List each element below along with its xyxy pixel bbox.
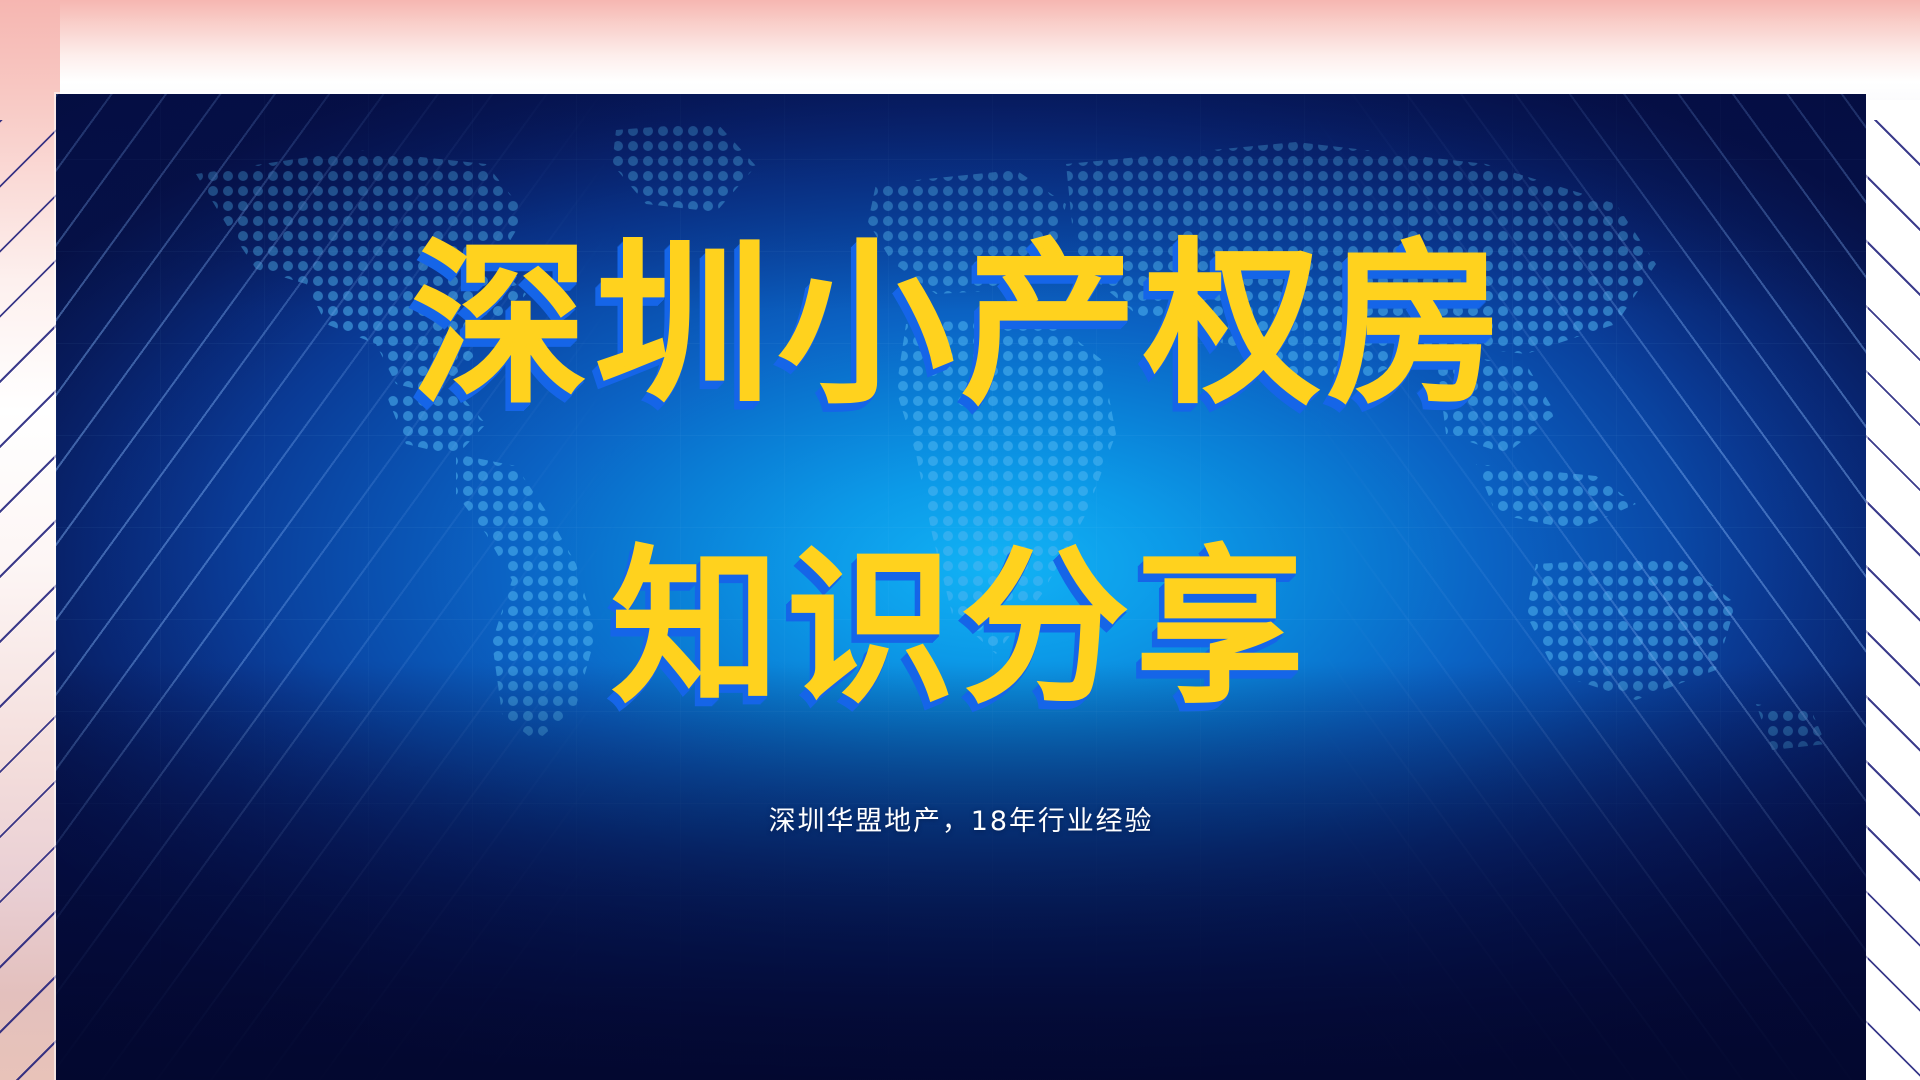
frame-right-diagonal-lines (1858, 120, 1920, 1080)
title-slide: 深圳小产权房 知识分享 深圳华盟地产，18年行业经验 (0, 0, 1920, 1080)
frame-top-gradient (0, 0, 1920, 100)
frame-left-diagonal-lines (0, 120, 62, 1080)
slide-subtitle: 深圳华盟地产，18年行业经验 (56, 799, 1866, 838)
blue-content-panel: 深圳小产权房 知识分享 深圳华盟地产，18年行业经验 (56, 94, 1866, 1080)
slide-text-content: 深圳小产权房 知识分享 深圳华盟地产，18年行业经验 (56, 94, 1866, 1080)
slide-title-line-1: 深圳小产权房 (56, 228, 1866, 424)
slide-title-line-2: 知识分享 (56, 534, 1866, 722)
